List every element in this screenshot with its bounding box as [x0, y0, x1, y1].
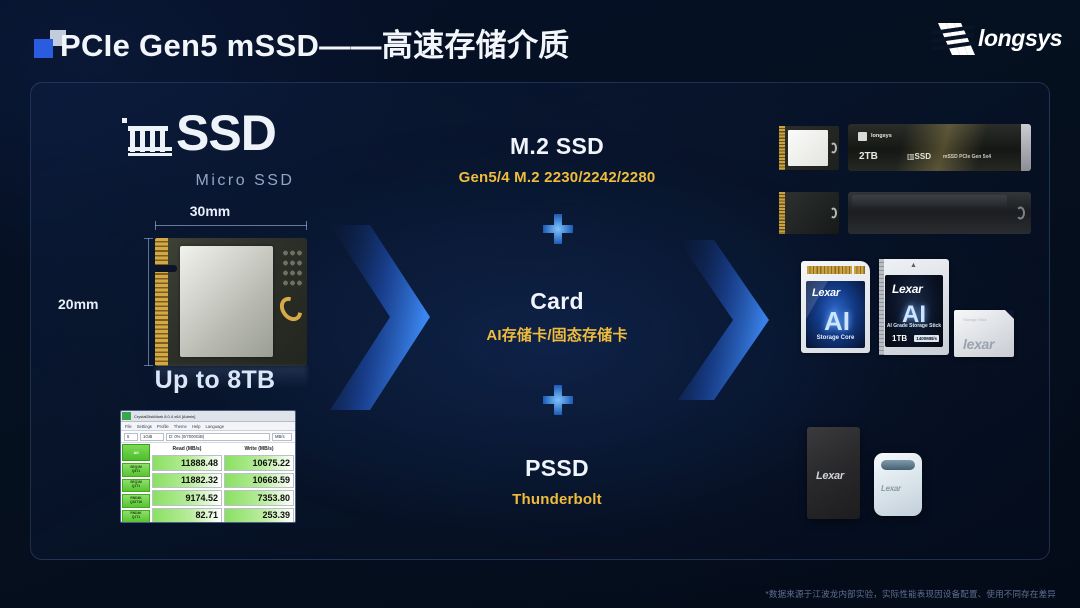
- m2-notch: [830, 208, 837, 219]
- row-label-rnd4k-q1t1[interactable]: RND4K Q1T1: [122, 510, 150, 524]
- card-speed-badge: 1400MB/s: [914, 335, 939, 342]
- m2-model-text: mSSD PCIe Gen 5x4: [943, 154, 991, 160]
- size-select[interactable]: 1GiB: [140, 433, 164, 441]
- table-row: 11882.32 10668.59: [151, 472, 295, 490]
- stylized-m-icon: [120, 114, 178, 158]
- card-face: Lexar AI Storage Core: [806, 281, 865, 348]
- card-ai-text: AI: [824, 306, 850, 337]
- card-capacity-text: 1TB: [892, 334, 907, 343]
- m2-sheen: [848, 124, 1031, 171]
- m2-gold-contacts: [779, 126, 785, 170]
- cell-write: 10668.59: [224, 473, 294, 489]
- pssd-brand-text: Lexar: [816, 470, 844, 482]
- module-notch: [155, 265, 177, 272]
- longsys-mark-icon: [930, 21, 976, 57]
- center-title: Card: [397, 288, 717, 315]
- slide-header: PCIe Gen5 mSSD——高速存储介质 longsys: [0, 0, 1080, 78]
- dimension-height-line: [148, 238, 149, 366]
- card-face: Lexar AI AI Grade Storage Stick 1TB 1400…: [885, 275, 943, 347]
- center-title: M.2 SSD: [397, 133, 717, 160]
- micro-ssd-subtitle: Micro SSD: [140, 172, 350, 190]
- module-gold-contacts: [155, 238, 168, 366]
- card-rail-left: [879, 259, 884, 355]
- header-read: Read (MB/s): [151, 443, 223, 454]
- row-label-seq1m-q8t1[interactable]: SEQ1M Q8T1: [122, 463, 150, 477]
- m2-label: [788, 130, 828, 166]
- page-title: PCIe Gen5 mSSD——高速存储介质: [60, 20, 570, 65]
- center-subtitle: Thunderbolt: [397, 491, 717, 508]
- menu-item-help[interactable]: Help: [192, 424, 201, 429]
- benchmark-window-title: CrystalDiskMark 8.0.4 x64 [Admin]: [134, 414, 195, 419]
- heatsink-plate: [852, 195, 1007, 207]
- benchmark-controls: 5 1GiB D: 0% (0/7000GiB) MB/s: [121, 431, 295, 443]
- card-top-text: Storage Stick: [963, 317, 987, 322]
- menu-item-profile[interactable]: Profile: [157, 424, 169, 429]
- card-brand-text: Lexar: [812, 287, 840, 299]
- module-nand-package: [180, 246, 273, 357]
- card-gold-pins: [807, 266, 852, 274]
- menu-item-theme[interactable]: Theme: [174, 424, 187, 429]
- plus-glow-icon: [541, 212, 575, 246]
- m2-notch: [1016, 207, 1025, 220]
- cell-read: 9174.52: [152, 490, 222, 506]
- m2-ssd-2280-branded: longsys 2TB ▥SSD mSSD PCIe Gen 5x4: [848, 124, 1031, 171]
- m2-brand-text: longsys: [871, 133, 892, 139]
- cell-write: 10675.22: [224, 455, 294, 471]
- lexar-portable-ssd-dark: Lexar: [807, 427, 860, 519]
- lexar-plain-card: lexar Storage Stick: [954, 310, 1014, 357]
- benchmark-menubar: File Settings Profile Theme Help Languag…: [121, 422, 295, 431]
- header-write: Write (MB/s): [223, 443, 295, 454]
- cell-read: 11888.48: [152, 455, 222, 471]
- menu-item-language[interactable]: Language: [205, 424, 224, 429]
- benchmark-results: All SEQ1M Q8T1 SEQ1M Q1T1 RND4K Q32T16 R…: [121, 443, 295, 523]
- title-square-front: [34, 39, 53, 58]
- unit-select[interactable]: MB/s: [272, 433, 292, 441]
- m2-edge: [1021, 124, 1031, 171]
- m2-model-mark: ▥SSD: [907, 152, 931, 161]
- center-block-pssd: PSSD Thunderbolt: [397, 455, 717, 508]
- m2-gold-contacts: [779, 192, 785, 234]
- slide-root: PCIe Gen5 mSSD——高速存储介质 longsys: [0, 0, 1080, 608]
- cell-read: 11882.32: [152, 473, 222, 489]
- row-label-bottom: Q8T1: [132, 470, 140, 474]
- logo-wordmark: longsys: [978, 25, 1062, 52]
- cell-write: 253.39: [224, 508, 294, 524]
- menu-item-file[interactable]: File: [125, 424, 132, 429]
- benchmark-value-columns: Read (MB/s) Write (MB/s) 11888.48 10675.…: [151, 443, 295, 523]
- dimension-width-line: [155, 225, 307, 226]
- plus-glow-icon: [541, 383, 575, 417]
- module-test-pads: [282, 248, 302, 288]
- m2-notch: [830, 143, 837, 154]
- dimension-width-label: 30mm: [140, 203, 280, 219]
- center-title: PSSD: [397, 455, 717, 482]
- company-logo: longsys: [920, 18, 1058, 62]
- card-brand-text: lexar: [963, 336, 994, 352]
- card-corner-cut: [1005, 310, 1014, 319]
- runs-select[interactable]: 5: [124, 433, 138, 441]
- lexar-ai-storage-stick-card: ▲ Lexar AI AI Grade Storage Stick 1TB 14…: [879, 259, 949, 355]
- pssd-slot: [881, 460, 915, 470]
- footnote-disclaimer: *数据来源于江波龙内部实验，实际性能表现因设备配置、使用不同存在差异: [765, 588, 1056, 600]
- card-triangle-icon: ▲: [910, 262, 917, 269]
- menu-item-settings[interactable]: Settings: [137, 424, 152, 429]
- crystaldiskmark-window: CrystalDiskMark 8.0.4 x64 [Admin] File S…: [120, 410, 296, 523]
- dimension-height-label: 20mm: [58, 296, 98, 312]
- table-row: 11888.48 10675.22: [151, 454, 295, 472]
- lexar-portable-ssd-white: Lexar: [874, 453, 922, 516]
- center-subtitle: AI存储卡/固态存储卡: [397, 324, 717, 345]
- benchmark-app-icon: [122, 412, 131, 420]
- benchmark-column-headers: Read (MB/s) Write (MB/s): [151, 443, 295, 454]
- card-brand-text: Lexar: [892, 282, 923, 296]
- cell-read: 82.71: [152, 508, 222, 524]
- center-subtitle: Gen5/4 M.2 2230/2242/2280: [397, 169, 717, 186]
- table-row: 82.71 253.39: [151, 507, 295, 524]
- m2-ssd-2230-white: [779, 126, 839, 170]
- benchmark-titlebar: CrystalDiskMark 8.0.4 x64 [Admin]: [121, 411, 295, 422]
- center-block-card: Card AI存储卡/固态存储卡: [397, 288, 717, 345]
- m2-brand-icon: [858, 132, 867, 141]
- row-label-bottom: Q1T1: [132, 485, 140, 489]
- mssd-brand-logo: SSD: [120, 108, 370, 164]
- row-label-rnd4k-q32t16[interactable]: RND4K Q32T16: [122, 494, 150, 508]
- benchmark-row-buttons: All SEQ1M Q8T1 SEQ1M Q1T1 RND4K Q32T16 R…: [121, 443, 151, 523]
- m2-ssd-2230-black: [779, 192, 839, 234]
- row-label-bottom: Q1T1: [132, 516, 140, 520]
- pssd-brand-text: Lexar: [881, 484, 901, 493]
- row-label-bottom: Q32T16: [130, 501, 142, 505]
- card-sub-text: AI Grade Storage Stick: [885, 323, 943, 329]
- card-sub-text: Storage Core: [806, 335, 865, 341]
- target-select[interactable]: D: 0% (0/7000GiB): [166, 433, 270, 441]
- m2-ssd-heatsink: [848, 192, 1031, 234]
- mssd-module-image: [155, 238, 307, 366]
- cell-write: 7353.80: [224, 490, 294, 506]
- center-block-m2: M.2 SSD Gen5/4 M.2 2230/2242/2280: [397, 133, 717, 186]
- card-chip-pins: [854, 266, 865, 274]
- table-row: 9174.52 7353.80: [151, 489, 295, 507]
- capacity-label: Up to 8TB: [110, 366, 320, 395]
- run-all-button[interactable]: All: [122, 444, 150, 461]
- m2-capacity-badge: 2TB: [859, 151, 878, 162]
- row-label-seq1m-q1t1[interactable]: SEQ1M Q1T1: [122, 479, 150, 493]
- mssd-wordmark: SSD: [176, 104, 276, 162]
- lexar-ai-storage-core-card: Lexar AI Storage Core: [801, 261, 870, 353]
